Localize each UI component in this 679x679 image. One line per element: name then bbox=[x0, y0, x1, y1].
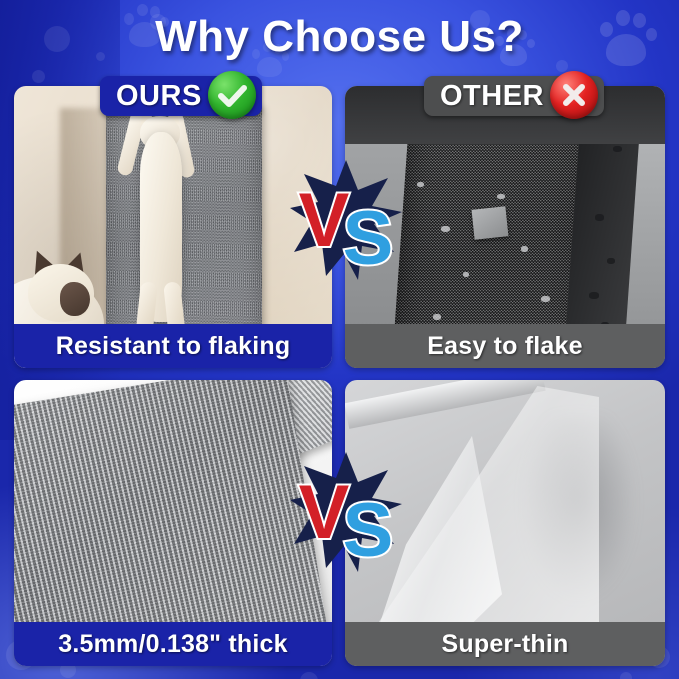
badge-other-label: OTHER bbox=[440, 80, 544, 113]
badge-other[interactable]: OTHER bbox=[424, 76, 604, 116]
page-title: Why Choose Us? bbox=[155, 12, 524, 61]
vs-emblem-top: V S bbox=[290, 160, 402, 280]
x-circle-icon bbox=[550, 71, 598, 119]
vs-emblem-bottom: V S bbox=[290, 452, 402, 572]
caption-thickness: 3.5mm/0.138" thick bbox=[14, 622, 332, 666]
infographic-root: Why Choose Us? Resistant to flaking bbox=[0, 0, 679, 679]
caption-resistant-to-flaking: Resistant to flaking bbox=[14, 324, 332, 368]
bubble-decoration bbox=[32, 70, 45, 83]
caption-easy-to-flake: Easy to flake bbox=[345, 324, 665, 368]
check-circle-icon bbox=[208, 71, 256, 119]
panel-ours-flaking[interactable]: Resistant to flaking bbox=[14, 86, 332, 368]
badge-ours-label: OURS bbox=[116, 80, 202, 113]
caption-super-thin: Super-thin bbox=[345, 622, 665, 666]
vs-letter-s: S bbox=[343, 488, 394, 572]
panel-ours-thickness[interactable]: 3.5mm/0.138" thick bbox=[14, 380, 332, 666]
bubble-decoration bbox=[620, 672, 632, 679]
vs-letter-s: S bbox=[343, 196, 394, 280]
badge-ours[interactable]: OURS bbox=[100, 76, 262, 116]
